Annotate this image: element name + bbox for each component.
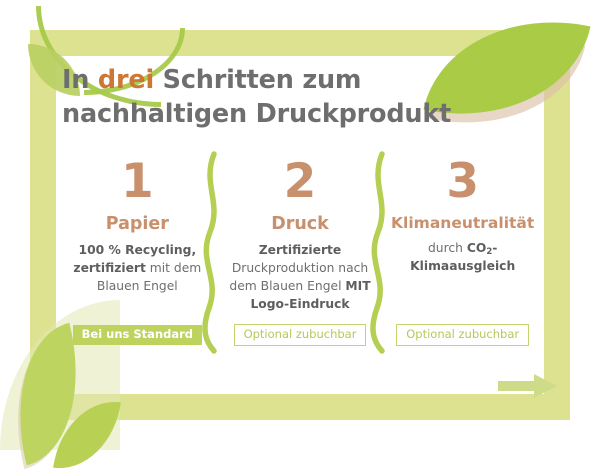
step-heading-1: Papier xyxy=(106,215,169,234)
arrow-right-icon xyxy=(498,373,558,399)
step-body-2: Zertifizierte Druckproduktion nach dem B… xyxy=(219,242,382,313)
title-highlight: drei xyxy=(98,65,154,95)
step-heading-2: Druck xyxy=(271,215,329,234)
step-body-1: 100 % Recycling, zertifiziert mit dem Bl… xyxy=(56,242,219,295)
page-title: In drei Schritten zum nachhaltigen Druck… xyxy=(62,64,502,131)
badge-cell-3: Optional zubuchbar xyxy=(381,322,544,348)
infographic-poster: In drei Schritten zum nachhaltigen Druck… xyxy=(0,0,600,450)
badges-container: Bei uns Standard Optional zubuchbar Opti… xyxy=(56,322,544,348)
badge-step-2[interactable]: Optional zubuchbar xyxy=(234,324,367,346)
step-body-3: durch CO2-Klimaausgleich xyxy=(381,240,544,276)
step-number-2: 2 xyxy=(284,158,317,205)
title-rest: Schritten zum xyxy=(154,65,361,95)
title-prefix: In xyxy=(62,65,98,95)
badge-cell-1: Bei uns Standard xyxy=(56,322,219,348)
step-number-1: 1 xyxy=(121,158,154,205)
step-number-3: 3 xyxy=(446,158,479,205)
badge-step-3[interactable]: Optional zubuchbar xyxy=(396,324,529,346)
step-heading-3: Klimaneutralität xyxy=(391,215,534,232)
title-line2: nachhaltigen Druckprodukt xyxy=(62,99,451,129)
badge-cell-2: Optional zubuchbar xyxy=(219,322,382,348)
badge-step-1[interactable]: Bei uns Standard xyxy=(73,325,202,345)
